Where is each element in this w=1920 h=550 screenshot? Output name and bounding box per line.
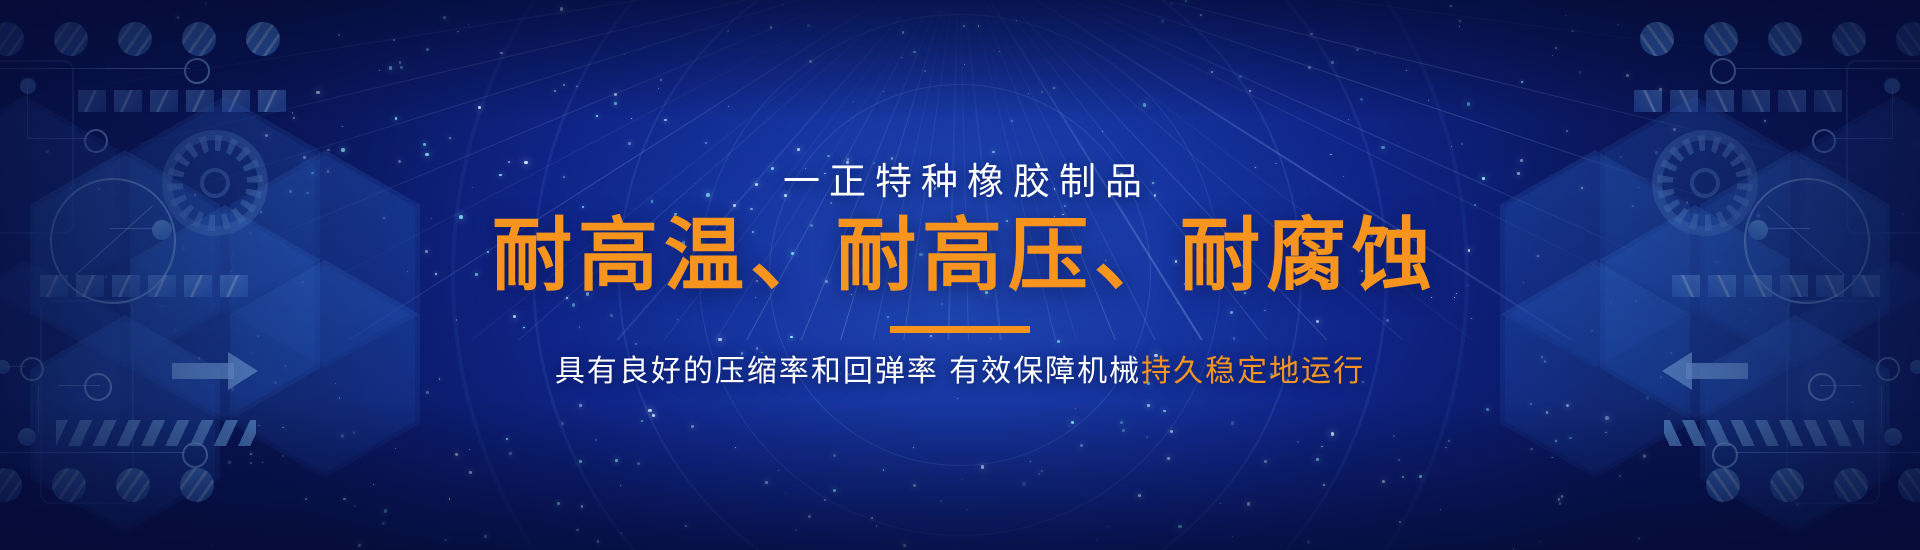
subtitle-part-orange: 持久稳定地运行 xyxy=(1141,355,1365,388)
subtitle: 具有良好的压缩率和回弹率 有效保障机械持久稳定地运行 xyxy=(555,357,1365,387)
banner-content: 一正特种橡胶制品 耐高温、耐高压、耐腐蚀 具有良好的压缩率和回弹率 有效保障机械… xyxy=(0,0,1920,550)
brand-kicker: 一正特种橡胶制品 xyxy=(783,163,1151,200)
subtitle-part-white-2: 有效保障机械 xyxy=(939,355,1141,388)
hero-banner: 一正特种橡胶制品 耐高温、耐高压、耐腐蚀 具有良好的压缩率和回弹率 有效保障机械… xyxy=(0,0,1920,550)
accent-divider xyxy=(890,326,1030,333)
subtitle-part-white-1: 具有良好的压缩率和回弹率 xyxy=(555,355,939,388)
page-title: 耐高温、耐高压、耐腐蚀 xyxy=(492,216,1438,296)
